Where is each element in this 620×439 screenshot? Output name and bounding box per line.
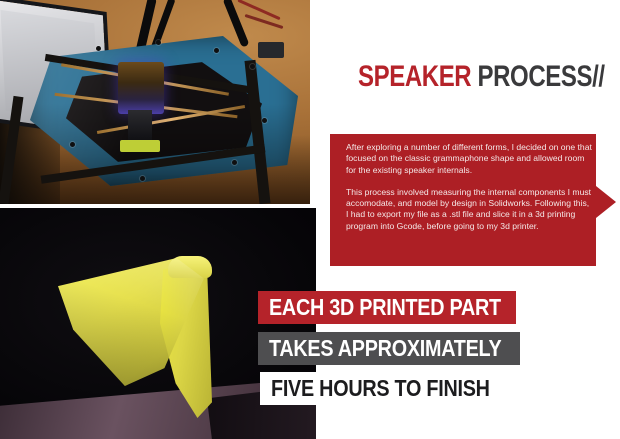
banner-line-2-text: TAKES APPROXIMATELY bbox=[269, 335, 501, 362]
printer-bolt bbox=[262, 118, 267, 123]
banner-line-3: FIVE HOURS TO FINISH bbox=[260, 372, 520, 405]
printer-bolt bbox=[70, 142, 75, 147]
printer-bolt bbox=[140, 176, 145, 181]
printer-bolt bbox=[232, 160, 237, 165]
page-title-accent: SPEAKER bbox=[358, 60, 471, 93]
banner-line-1: EACH 3D PRINTED PART bbox=[258, 291, 516, 324]
callout-paragraph-2: This process involved measuring the inte… bbox=[346, 187, 592, 232]
description-callout-text: After exploring a number of different fo… bbox=[346, 142, 592, 260]
printer-bolt bbox=[250, 64, 255, 69]
printer-extruder-head bbox=[118, 62, 164, 114]
callout-arrow-icon bbox=[596, 186, 616, 218]
callout-paragraph-1: After exploring a number of different fo… bbox=[346, 142, 592, 176]
printer-bolt bbox=[156, 40, 161, 45]
presentation-slide: SPEAKER PROCESS// After exploring a numb… bbox=[0, 0, 620, 439]
banner-line-1-text: EACH 3D PRINTED PART bbox=[269, 294, 501, 321]
printer-bolt bbox=[214, 48, 219, 53]
3d-printer-photo bbox=[0, 0, 310, 204]
page-title: SPEAKER PROCESS// bbox=[358, 62, 605, 92]
page-title-rest: PROCESS// bbox=[471, 60, 604, 93]
banner-line-3-text: FIVE HOURS TO FINISH bbox=[271, 375, 490, 402]
printer-nozzle bbox=[128, 110, 152, 144]
printer-connector bbox=[258, 42, 284, 58]
banner-line-2: TAKES APPROXIMATELY bbox=[258, 332, 520, 365]
printer-bolt bbox=[96, 46, 101, 51]
